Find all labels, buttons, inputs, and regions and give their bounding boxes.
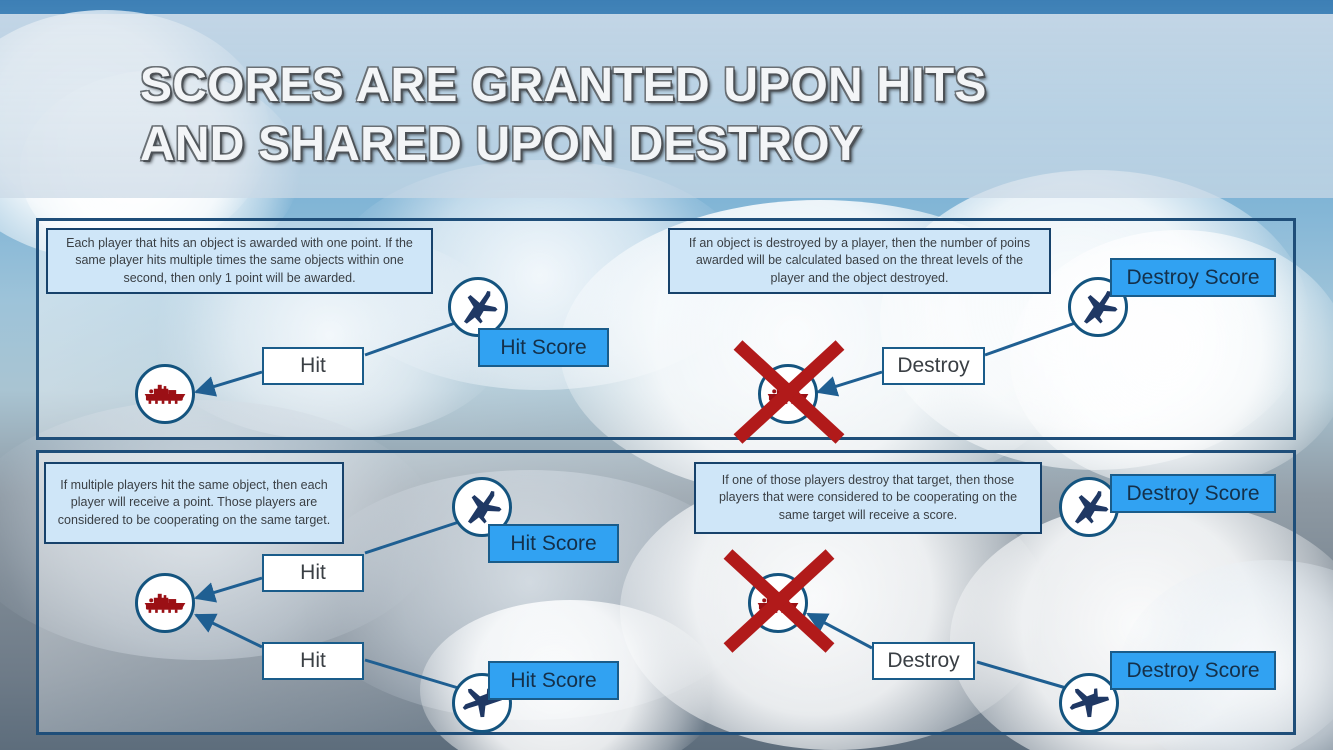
warship-icon [135,364,195,424]
page-title: Scores are granted upon hits and shared … [140,57,1260,174]
label-destroy-score-1[interactable]: Destroy Score [1110,474,1276,513]
title-line-1: Scores are granted upon hits [140,57,1260,116]
label-destroy-score-2[interactable]: Destroy Score [1110,651,1276,690]
label-hit-score[interactable]: Hit Score [478,328,609,367]
warship-icon [748,573,808,633]
label-destroy[interactable]: Destroy [872,642,975,680]
warship-icon [758,364,818,424]
label-hit-2[interactable]: Hit [262,642,364,680]
label-hit[interactable]: Hit [262,347,364,385]
label-destroy-score[interactable]: Destroy Score [1110,258,1276,297]
warship-icon [135,573,195,633]
label-hit-score-2[interactable]: Hit Score [488,661,619,700]
note-destroy-rule: If an object is destroyed by a player, t… [668,228,1051,294]
title-line-2: and shared upon destroy [140,116,1260,175]
label-hit-1[interactable]: Hit [262,554,364,592]
note-multi-hit-rule: If multiple players hit the same object,… [44,462,344,544]
note-shared-destroy-rule: If one of those players destroy that tar… [694,462,1042,534]
title-banner: Scores are granted upon hits and shared … [0,14,1333,198]
note-hit-rule: Each player that hits an object is award… [46,228,433,294]
label-destroy[interactable]: Destroy [882,347,985,385]
label-hit-score-1[interactable]: Hit Score [488,524,619,563]
